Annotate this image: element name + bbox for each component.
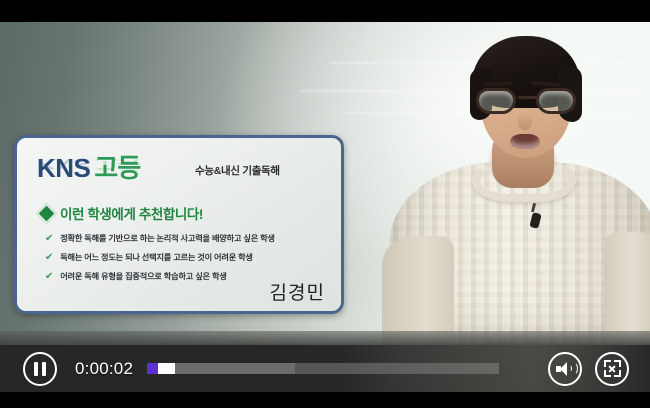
slide-logo: KNS 고등	[37, 148, 140, 185]
control-bar-right-group	[548, 352, 629, 386]
glasses-icon	[474, 88, 580, 114]
volume-button[interactable]	[548, 352, 582, 386]
presenter-person	[398, 22, 650, 345]
video-frame[interactable]: KNS 고등 KNS 고등 수능&내신 기출독해 이런 학생에게 추천합니다! …	[0, 22, 650, 345]
check-icon: ✔	[45, 234, 53, 244]
lens-left	[476, 88, 516, 114]
list-item-text: 정확한 독해를 기반으로 하는 논리적 사고력을 배양하고 싶은 학생	[60, 235, 275, 243]
pause-button[interactable]	[23, 352, 57, 386]
presenter-name: 김경민	[270, 278, 325, 305]
pause-icon	[34, 362, 46, 376]
lens-right	[536, 88, 576, 114]
player-control-bar[interactable]: 0:00:02	[0, 345, 650, 392]
slide-subtitle: 수능&내신 기출독해	[195, 163, 280, 178]
list-item-text: 어려운 독해 유형을 집중적으로 학습하고 싶은 학생	[60, 273, 226, 281]
progress-bar-track[interactable]	[147, 363, 499, 374]
sweater-collar	[472, 160, 576, 202]
left-arm	[382, 236, 454, 345]
time-elapsed-label: 0:00:02	[75, 359, 133, 379]
letterbox-top	[0, 0, 650, 22]
speaker-icon	[556, 362, 574, 376]
progress-played-segment	[147, 363, 158, 374]
list-item: ✔ 정확한 독해를 기반으로 하는 논리적 사고력을 배양하고 싶은 학생	[45, 234, 275, 244]
logo-secondary-text: 고등	[94, 148, 140, 185]
slide-heading-text: 이런 학생에게 추천합니다!	[60, 203, 203, 223]
glasses-bridge	[518, 96, 538, 99]
diamond-icon	[36, 202, 57, 223]
letterbox-bottom	[0, 392, 650, 408]
mouth	[510, 134, 540, 149]
presentation-slide: KNS 고등 KNS 고등 수능&내신 기출독해 이런 학생에게 추천합니다! …	[14, 135, 344, 314]
recommendation-list: ✔ 정확한 독해를 기반으로 하는 논리적 사고력을 배양하고 싶은 학생 ✔ …	[45, 234, 275, 291]
video-player[interactable]: KNS 고등 KNS 고등 수능&내신 기출독해 이런 학생에게 추천합니다! …	[0, 0, 650, 408]
fullscreen-button[interactable]	[595, 352, 629, 386]
check-icon: ✔	[45, 272, 53, 282]
list-item-text: 독해는 어느 정도는 되나 선택지를 고르는 것이 어려운 학생	[60, 254, 253, 262]
check-icon: ✔	[45, 253, 53, 263]
progress-ahead-segment	[175, 363, 295, 374]
nose	[518, 112, 532, 130]
right-arm	[604, 232, 650, 345]
list-item: ✔ 어려운 독해 유형을 집중적으로 학습하고 싶은 학생	[45, 272, 275, 282]
list-item: ✔ 독해는 어느 정도는 되나 선택지를 고르는 것이 어려운 학생	[45, 253, 275, 263]
fullscreen-icon	[604, 360, 621, 377]
logo-primary-text: KNS	[37, 153, 90, 184]
slide-heading: 이런 학생에게 추천합니다!	[39, 203, 203, 223]
desk-strip	[0, 331, 650, 345]
